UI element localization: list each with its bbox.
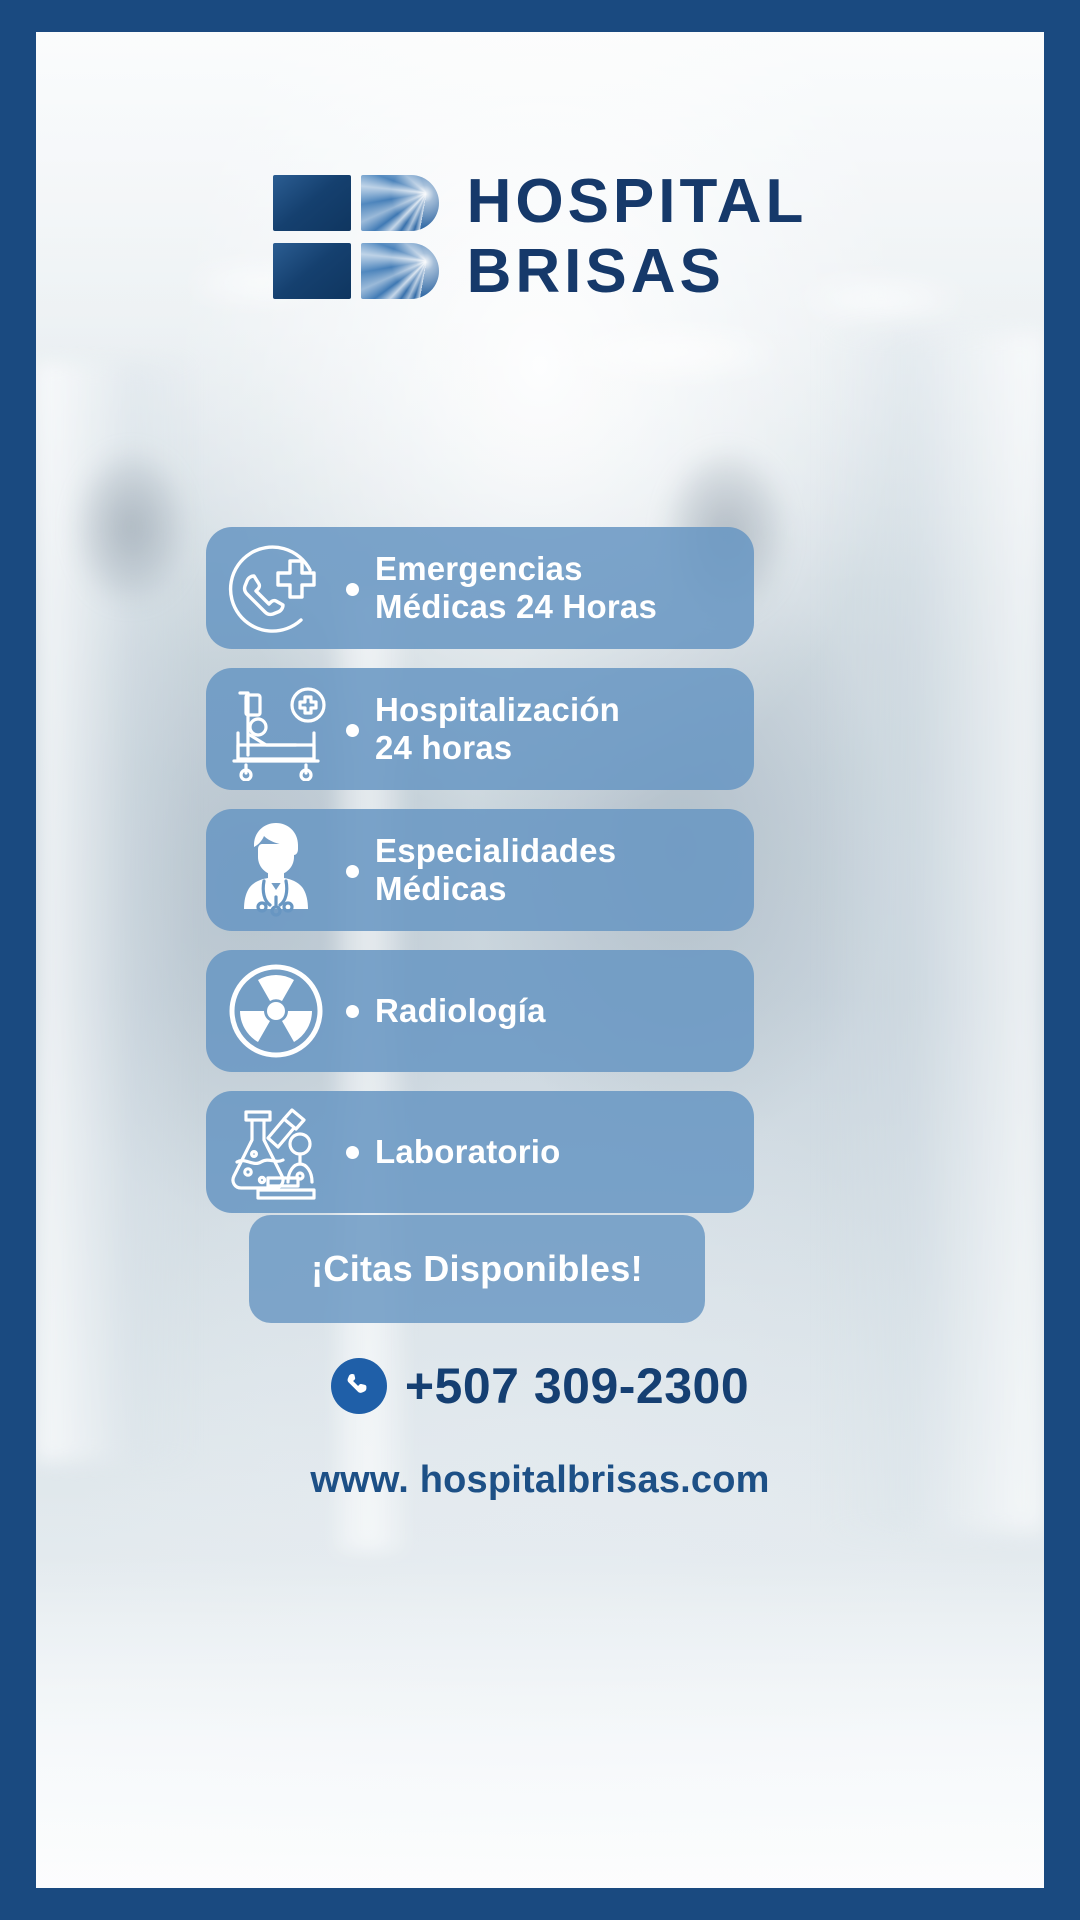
service-label-line2: 24 horas — [375, 729, 512, 766]
brand-line-2: BRISAS — [467, 242, 808, 302]
hb-squares-logo-icon — [273, 175, 439, 299]
hospital-bed-icon — [206, 668, 346, 790]
brand-logo: HOSPITAL BRISAS — [36, 172, 1044, 301]
photo-panel: HOSPITAL BRISAS — [36, 32, 1044, 1888]
logo-square-dark-top — [273, 175, 351, 231]
service-label: Hospitalización 24 horas — [346, 691, 620, 766]
service-label: Laboratorio — [346, 1133, 561, 1171]
service-label-line2: Médicas 24 Horas — [375, 588, 657, 625]
brand-wordmark: HOSPITAL BRISAS — [467, 172, 808, 301]
service-label-line1: Radiología — [375, 992, 546, 1029]
radiation-icon — [206, 950, 346, 1072]
bullet-dot-icon — [346, 724, 359, 737]
appointments-cta-label: ¡Citas Disponibles! — [311, 1248, 643, 1290]
service-label-text: Laboratorio — [375, 1133, 561, 1171]
service-card-hospitalizacion[interactable]: Hospitalización 24 horas — [206, 668, 754, 790]
service-label: Emergencias Médicas 24 Horas — [346, 550, 657, 625]
service-label-text: Especialidades Médicas — [375, 832, 616, 907]
service-label-line2: Médicas — [375, 870, 507, 907]
brand-line-1: HOSPITAL — [467, 172, 808, 232]
service-label-text: Hospitalización 24 horas — [375, 691, 620, 766]
service-card-radiologia[interactable]: Radiología — [206, 950, 754, 1072]
flask-microscope-icon — [206, 1091, 346, 1213]
service-card-especialidades[interactable]: Especialidades Médicas — [206, 809, 754, 931]
logo-square-ray-top — [361, 175, 439, 231]
poster-content: HOSPITAL BRISAS — [36, 32, 1044, 1888]
logo-square-dark-bottom — [273, 243, 351, 299]
bullet-dot-icon — [346, 1005, 359, 1018]
service-label-text: Emergencias Médicas 24 Horas — [375, 550, 657, 625]
appointments-cta-button[interactable]: ¡Citas Disponibles! — [249, 1215, 705, 1323]
phone-circle-icon — [331, 1358, 387, 1414]
service-card-emergencias[interactable]: Emergencias Médicas 24 Horas — [206, 527, 754, 649]
service-label: Especialidades Médicas — [346, 832, 616, 907]
service-card-laboratorio[interactable]: Laboratorio — [206, 1091, 754, 1213]
website-url[interactable]: www. hospitalbrisas.com — [36, 1459, 1044, 1502]
service-label-line1: Emergencias — [375, 550, 583, 587]
emergency-call-cross-icon — [206, 527, 346, 649]
service-label-line1: Laboratorio — [375, 1133, 561, 1170]
service-label: Radiología — [346, 992, 546, 1030]
service-label-line1: Hospitalización — [375, 691, 620, 728]
bullet-dot-icon — [346, 583, 359, 596]
poster-root: HOSPITAL BRISAS — [0, 0, 1080, 1920]
services-list: Emergencias Médicas 24 Horas — [206, 527, 754, 1232]
bullet-dot-icon — [346, 1146, 359, 1159]
doctor-stethoscope-icon — [206, 809, 346, 931]
service-label-text: Radiología — [375, 992, 546, 1030]
phone-number: +507 309-2300 — [405, 1357, 749, 1415]
service-label-line1: Especialidades — [375, 832, 616, 869]
bullet-dot-icon — [346, 865, 359, 878]
phone-row[interactable]: +507 309-2300 — [36, 1357, 1044, 1415]
logo-square-ray-bottom — [361, 243, 439, 299]
